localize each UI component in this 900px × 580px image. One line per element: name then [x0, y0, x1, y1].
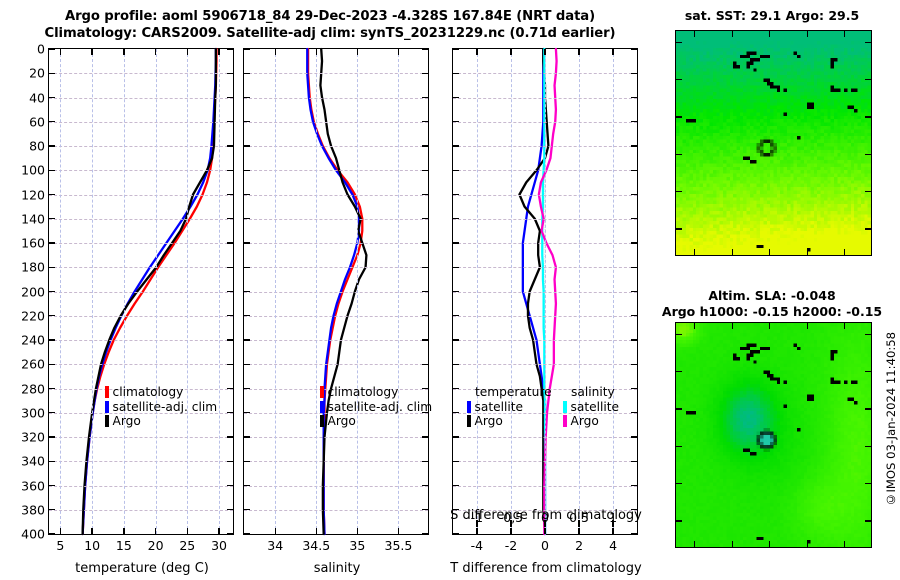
depth-tick	[631, 388, 637, 389]
legend-swatch-satellite-adj-clim	[320, 401, 324, 413]
value-tick-label: -2	[505, 538, 517, 553]
depth-tick	[49, 194, 55, 195]
latitude-tick	[676, 228, 682, 229]
depth-tick	[453, 48, 459, 49]
depth-tick	[631, 461, 637, 462]
latitude-tick	[865, 154, 871, 155]
latitude-tick	[676, 334, 682, 335]
value-tick	[123, 49, 124, 55]
value-tick	[218, 528, 219, 534]
legend-label: satellite	[475, 400, 524, 415]
sla-map-title-line-2: Argo h1000: -0.15 h2000: -0.15	[660, 304, 884, 320]
depth-tick	[244, 242, 250, 243]
depth-tick	[227, 388, 233, 389]
value-gridline	[156, 49, 157, 534]
depth-tick	[631, 485, 637, 486]
depth-tick	[49, 412, 55, 413]
depth-tick-label: 220	[21, 308, 45, 323]
value-gridline	[357, 49, 358, 534]
depth-tick	[49, 242, 55, 243]
legend-label: Argo	[113, 414, 141, 429]
value-gridline	[92, 49, 93, 534]
depth-tick	[422, 364, 428, 365]
depth-tick	[227, 242, 233, 243]
depth-gridline	[49, 510, 233, 511]
latitude-tick	[865, 334, 871, 335]
longitude-tick	[732, 31, 733, 37]
latitude-tick	[865, 79, 871, 80]
value-tick-label: 35	[349, 538, 365, 553]
depth-tick	[422, 170, 428, 171]
depth-gridline	[49, 292, 233, 293]
salinity-legend: climatology satellite-adj. clim Argo	[320, 385, 432, 429]
depth-gridline	[244, 340, 428, 341]
depth-gridline	[49, 316, 233, 317]
depth-tick-label: 200	[21, 284, 45, 299]
depth-tick	[49, 315, 55, 316]
depth-tick	[49, 48, 55, 49]
latitude-tick	[865, 116, 871, 117]
value-tick	[578, 528, 579, 534]
depth-tick	[49, 388, 55, 389]
value-tick	[476, 528, 477, 534]
latitude-tick	[676, 116, 682, 117]
longitude-tick	[732, 541, 733, 547]
value-gridline	[275, 49, 276, 534]
depth-tick	[422, 533, 428, 534]
sla-map[interactable]: 1086420164166168170172	[675, 322, 872, 548]
depth-tick	[244, 121, 250, 122]
depth-tick	[227, 291, 233, 292]
temperature-axis-title: temperature (deg C)	[49, 561, 235, 576]
depth-tick	[422, 145, 428, 146]
latitude-tick	[865, 42, 871, 43]
longitude-tick	[844, 249, 845, 255]
value-tick	[510, 528, 511, 534]
depth-tick-label: 180	[21, 260, 45, 275]
depth-tick	[49, 170, 55, 171]
depth-tick	[49, 436, 55, 437]
legend-swatch-sal-satellite	[563, 401, 567, 413]
depth-tick	[49, 461, 55, 462]
depth-tick	[631, 170, 637, 171]
depth-gridline	[244, 292, 428, 293]
depth-tick	[453, 145, 459, 146]
value-tick	[275, 49, 276, 55]
latitude-tick	[676, 42, 682, 43]
depth-tick-label: 260	[21, 357, 45, 372]
depth-gridline	[244, 461, 428, 462]
value-tick	[357, 49, 358, 55]
depth-tick	[631, 145, 637, 146]
longitude-tick	[844, 323, 845, 329]
value-gridline	[398, 49, 399, 534]
depth-tick	[453, 291, 459, 292]
depth-tick	[227, 461, 233, 462]
value-tick	[123, 528, 124, 534]
legend-label: Argo	[328, 414, 356, 429]
depth-tick	[227, 533, 233, 534]
depth-gridline	[244, 267, 428, 268]
depth-tick	[453, 218, 459, 219]
value-tick-label: 30	[211, 538, 227, 553]
value-gridline	[579, 49, 580, 534]
latitude-tick	[676, 483, 682, 484]
longitude-tick	[732, 323, 733, 329]
depth-gridline	[49, 146, 233, 147]
sla-map-title-line-1: Altim. SLA: -0.048	[666, 288, 878, 304]
legend-swatch-satellite-adj-clim	[105, 401, 109, 413]
latitude-tick	[865, 483, 871, 484]
value-tick	[544, 49, 545, 55]
depth-tick	[244, 48, 250, 49]
latitude-tick	[676, 154, 682, 155]
depth-tick	[422, 121, 428, 122]
legend-item: Argo	[563, 414, 619, 429]
depth-tick	[244, 364, 250, 365]
legend-item: satellite	[467, 400, 552, 415]
depth-gridline	[244, 364, 428, 365]
depth-tick	[631, 73, 637, 74]
depth-tick	[422, 48, 428, 49]
longitude-tick	[807, 31, 808, 37]
depth-tick	[631, 412, 637, 413]
depth-tick-label: 280	[21, 381, 45, 396]
depth-gridline	[49, 170, 233, 171]
depth-tick	[453, 242, 459, 243]
depth-tick-label: 360	[21, 478, 45, 493]
depth-tick	[227, 339, 233, 340]
value-tick-label: 4	[609, 538, 617, 553]
depth-tick	[631, 121, 637, 122]
longitude-tick	[694, 541, 695, 547]
depth-tick	[227, 364, 233, 365]
value-tick	[612, 49, 613, 55]
depth-tick	[244, 388, 250, 389]
depth-tick	[49, 364, 55, 365]
depth-gridline	[49, 98, 233, 99]
depth-tick	[244, 509, 250, 510]
value-tick	[91, 528, 92, 534]
depth-gridline	[49, 219, 233, 220]
depth-gridline	[49, 340, 233, 341]
value-tick	[316, 49, 317, 55]
depth-tick	[453, 339, 459, 340]
depth-tick	[453, 267, 459, 268]
depth-tick	[453, 121, 459, 122]
depth-gridline	[244, 243, 428, 244]
latitude-tick	[676, 408, 682, 409]
title-line-2: Climatology: CARS2009. Satellite-adj cli…	[0, 25, 660, 42]
depth-tick	[49, 533, 55, 534]
sla-map-canvas	[676, 323, 871, 547]
legend-label: climatology	[113, 385, 184, 400]
depth-gridline	[244, 437, 428, 438]
depth-tick	[453, 533, 459, 534]
value-tick	[357, 528, 358, 534]
depth-tick	[244, 73, 250, 74]
legend-item: climatology	[320, 385, 432, 400]
depth-tick	[631, 339, 637, 340]
legend-swatch-argo	[105, 415, 109, 427]
legend-swatch-climatology	[105, 386, 109, 398]
value-tick	[544, 528, 545, 534]
depth-tick-label: 160	[21, 236, 45, 251]
longitude-tick	[769, 323, 770, 329]
depth-tick	[422, 339, 428, 340]
value-tick	[316, 528, 317, 534]
depth-tick	[244, 170, 250, 171]
value-tick	[155, 528, 156, 534]
depth-tick	[49, 485, 55, 486]
latitude-tick	[676, 79, 682, 80]
depth-tick	[227, 436, 233, 437]
value-tick	[60, 49, 61, 55]
salinity-profile-panel[interactable]: climatology satellite-adj. clim Argo sal…	[243, 48, 429, 535]
latitude-tick	[865, 191, 871, 192]
depth-tick	[227, 218, 233, 219]
depth-gridline	[49, 122, 233, 123]
depth-tick	[422, 73, 428, 74]
depth-tick	[244, 97, 250, 98]
value-tick-label: 5	[56, 538, 64, 553]
depth-gridline	[244, 146, 428, 147]
depth-tick	[631, 97, 637, 98]
depth-tick-label: 320	[21, 430, 45, 445]
depth-tick	[227, 73, 233, 74]
depth-tick	[244, 267, 250, 268]
depth-tick	[49, 218, 55, 219]
latitude-tick	[676, 371, 682, 372]
value-tick	[398, 528, 399, 534]
depth-gridline	[49, 486, 233, 487]
legend-item: satellite	[563, 400, 619, 415]
latitude-tick	[865, 228, 871, 229]
legend-swatch-temp-satellite	[467, 401, 471, 413]
depth-tick	[631, 533, 637, 534]
legend-label: climatology	[328, 385, 399, 400]
value-gridline	[60, 49, 61, 534]
depth-gridline	[49, 195, 233, 196]
depth-tick	[631, 194, 637, 195]
depth-tick-label: 20	[29, 66, 45, 81]
legend-item: Argo	[467, 414, 552, 429]
copyright-text: ©IMOS 03-Jan-2024 11:40:58	[884, 332, 898, 507]
depth-tick-label: 80	[29, 139, 45, 154]
longitude-tick	[807, 541, 808, 547]
depth-tick	[422, 461, 428, 462]
depth-tick	[422, 218, 428, 219]
difference-legend-salinity: salinity satellite Argo	[563, 385, 619, 429]
depth-tick	[631, 364, 637, 365]
legend-item: climatology	[105, 385, 217, 400]
value-gridline	[477, 49, 478, 534]
depth-tick	[422, 436, 428, 437]
page-title: Argo profile: aoml 5906718_84 29-Dec-202…	[0, 8, 660, 42]
depth-tick	[227, 485, 233, 486]
longitude-tick	[807, 249, 808, 255]
latitude-tick	[676, 191, 682, 192]
depth-gridline	[49, 461, 233, 462]
depth-tick-label: 100	[21, 163, 45, 178]
legend-label: Argo	[571, 414, 599, 429]
longitude-tick	[694, 249, 695, 255]
value-tick-label: 25	[179, 538, 195, 553]
value-tick	[476, 49, 477, 55]
longitude-tick	[844, 31, 845, 37]
value-tick	[187, 49, 188, 55]
depth-tick	[227, 97, 233, 98]
legend-label: Argo	[475, 414, 503, 429]
depth-tick	[227, 509, 233, 510]
value-gridline	[316, 49, 317, 534]
value-gridline	[511, 49, 512, 534]
depth-tick	[244, 533, 250, 534]
depth-tick	[227, 315, 233, 316]
depth-tick-label: 140	[21, 211, 45, 226]
value-tick-label: 20	[148, 538, 164, 553]
value-tick-label: 2	[575, 538, 583, 553]
sst-map-title: sat. SST: 29.1 Argo: 29.5	[666, 8, 878, 24]
value-gridline	[187, 49, 188, 534]
sst-map-canvas	[676, 31, 871, 255]
depth-tick	[49, 339, 55, 340]
depth-tick	[49, 97, 55, 98]
depth-tick	[244, 436, 250, 437]
legend-header-salinity: salinity	[563, 385, 619, 400]
depth-tick	[422, 291, 428, 292]
sst-map[interactable]: 1086420164166168170172	[675, 30, 872, 256]
legend-swatch-sal-argo	[563, 415, 567, 427]
latitude-tick	[865, 371, 871, 372]
depth-tick	[244, 485, 250, 486]
depth-tick-label: 340	[21, 454, 45, 469]
longitude-tick	[769, 249, 770, 255]
depth-tick	[631, 218, 637, 219]
depth-tick	[453, 97, 459, 98]
value-gridline	[613, 49, 614, 534]
value-gridline	[219, 49, 220, 534]
depth-tick	[453, 315, 459, 316]
longitude-tick	[769, 31, 770, 37]
temperature-profile-panel[interactable]: climatology satellite-adj. clim Argo tem…	[48, 48, 234, 535]
depth-tick	[49, 291, 55, 292]
value-tick-label: 15	[116, 538, 132, 553]
depth-tick	[453, 436, 459, 437]
latitude-tick	[676, 520, 682, 521]
depth-tick	[244, 461, 250, 462]
difference-profile-panel[interactable]: temperature satellite Argo salinity sate…	[452, 48, 638, 535]
depth-gridline	[244, 98, 428, 99]
longitude-tick	[769, 541, 770, 547]
value-tick	[612, 528, 613, 534]
depth-tick	[453, 485, 459, 486]
value-tick-label: 10	[84, 538, 100, 553]
title-line-1: Argo profile: aoml 5906718_84 29-Dec-202…	[0, 8, 660, 25]
depth-tick	[244, 194, 250, 195]
value-tick	[578, 49, 579, 55]
longitude-tick	[844, 541, 845, 547]
depth-gridline	[49, 243, 233, 244]
depth-tick	[422, 242, 428, 243]
longitude-tick	[694, 323, 695, 329]
depth-gridline	[49, 364, 233, 365]
value-tick-label: -4	[471, 538, 483, 553]
depth-gridline	[244, 73, 428, 74]
value-tick-label: 0	[541, 538, 549, 553]
legend-item: Argo	[320, 414, 432, 429]
depth-tick	[227, 145, 233, 146]
depth-gridline	[244, 316, 428, 317]
depth-gridline	[244, 195, 428, 196]
depth-tick	[227, 48, 233, 49]
depth-tick	[422, 194, 428, 195]
depth-tick	[227, 121, 233, 122]
depth-tick-label: 300	[21, 405, 45, 420]
depth-gridline	[244, 170, 428, 171]
legend-item: satellite-adj. clim	[320, 400, 432, 415]
depth-tick	[631, 291, 637, 292]
depth-tick	[631, 48, 637, 49]
value-gridline	[545, 49, 546, 534]
longitude-tick	[694, 31, 695, 37]
depth-tick-label: 0	[37, 42, 45, 57]
depth-tick-label: 120	[21, 187, 45, 202]
depth-tick	[422, 485, 428, 486]
depth-tick	[49, 509, 55, 510]
depth-tick	[244, 218, 250, 219]
value-tick	[60, 528, 61, 534]
legend-item: satellite-adj. clim	[105, 400, 217, 415]
depth-tick	[453, 194, 459, 195]
legend-label: satellite-adj. clim	[328, 400, 433, 415]
legend-swatch-argo	[320, 415, 324, 427]
value-tick-label: 35.5	[385, 538, 413, 553]
depth-gridline	[244, 510, 428, 511]
depth-tick-label: 60	[29, 114, 45, 129]
legend-label: satellite-adj. clim	[113, 400, 218, 415]
depth-gridline	[244, 486, 428, 487]
value-gridline	[124, 49, 125, 534]
depth-gridline	[244, 122, 428, 123]
longitude-tick	[732, 249, 733, 255]
depth-tick-label: 400	[21, 527, 45, 542]
value-tick	[91, 49, 92, 55]
legend-header-temperature: temperature	[467, 385, 552, 400]
depth-tick	[244, 291, 250, 292]
legend-swatch-temp-argo	[467, 415, 471, 427]
depth-tick	[631, 267, 637, 268]
depth-gridline	[49, 267, 233, 268]
latitude-tick	[865, 446, 871, 447]
depth-tick	[227, 170, 233, 171]
depth-tick	[422, 315, 428, 316]
depth-tick	[422, 97, 428, 98]
depth-tick	[49, 145, 55, 146]
depth-tick-label: 240	[21, 333, 45, 348]
depth-tick	[227, 267, 233, 268]
depth-tick	[227, 194, 233, 195]
legend-swatch-climatology	[320, 386, 324, 398]
depth-tick	[631, 436, 637, 437]
value-tick	[187, 528, 188, 534]
difference-legend-temperature: temperature satellite Argo	[467, 385, 552, 429]
depth-gridline	[244, 219, 428, 220]
legend-item: Argo	[105, 414, 217, 429]
value-tick-label: 34	[267, 538, 283, 553]
depth-tick	[49, 73, 55, 74]
latitude-tick	[676, 446, 682, 447]
